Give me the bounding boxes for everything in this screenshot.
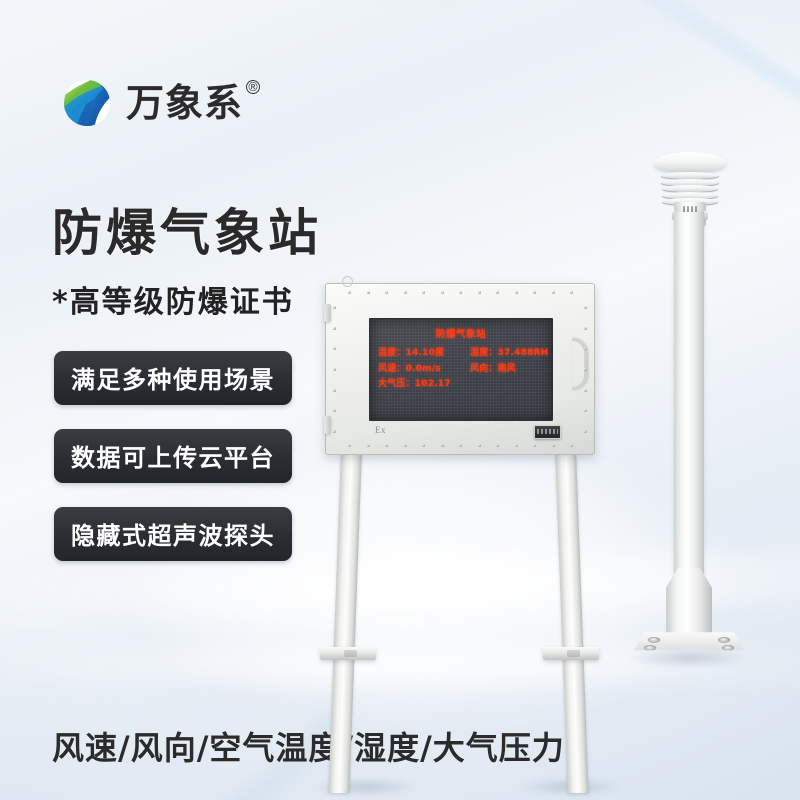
explosion-proof-display-cabinet: 防爆气象站 温度：14.10度 湿度：37.488RH 风速：0.0m/s 风向…: [325, 283, 595, 455]
registered-trademark-icon: ®: [246, 80, 260, 94]
led-temperature: 温度：14.10度: [378, 345, 470, 358]
bezel-bolt-icon: [496, 291, 499, 294]
bezel-bolt-icon: [441, 291, 444, 294]
led-wind-speed: 风速：0.0m/s: [378, 361, 470, 374]
page-title: 防爆气象站: [52, 193, 322, 265]
ex-certification-marking: Ex: [375, 425, 386, 435]
bezel-bolt-icon: [422, 444, 425, 447]
cabinet-foot-shadow-left: [311, 778, 419, 796]
led-row: 大气压：102.17: [378, 376, 552, 389]
feature-pill-3: 隐藏式超声波探头: [54, 507, 292, 561]
mast-pole-base-flare: [666, 568, 712, 634]
bezel-bolt-icon: [552, 444, 555, 447]
bezel-bolt-icon: [515, 291, 518, 294]
bezel-bolt-icon: [478, 444, 481, 447]
radiation-shield-fin: [661, 172, 719, 179]
bezel-bolt-icon: [333, 430, 336, 433]
led-air-pressure: 大气压：102.17: [378, 376, 470, 389]
led-humidity: 湿度：37.488RH: [470, 345, 548, 358]
flange-bolt-hole: [718, 637, 730, 643]
cabinet-foot-right: [543, 647, 599, 660]
led-readout-rows: 温度：14.10度 湿度：37.488RH 风速：0.0m/s 风向：南风 大气…: [378, 345, 552, 389]
bezel-bolt-icon: [385, 444, 388, 447]
bezel-bolt-icon: [333, 409, 336, 412]
bezel-bolt-icon: [584, 430, 587, 433]
bezel-bolt-icon: [367, 291, 370, 294]
led-row: 温度：14.10度 湿度：37.488RH: [378, 345, 552, 358]
led-display-screen: 防爆气象站 温度：14.10度 湿度：37.488RH 风速：0.0m/s 风向…: [369, 318, 553, 421]
bezel-bolt-icon: [333, 327, 336, 330]
mast-pole: [674, 212, 704, 592]
hinge-bottom-icon: [324, 416, 331, 434]
bezel-bolt-icon: [333, 306, 336, 309]
bezel-bolt-icon: [552, 291, 555, 294]
bezel-bolt-icon: [533, 444, 536, 447]
bezel-bolt-icon: [367, 444, 370, 447]
bezel-bolt-icon: [533, 291, 536, 294]
bezel-bolt-icon: [584, 409, 587, 412]
foot-bolt-notch: [344, 650, 357, 657]
feature-list: 满足多种使用场景 数据可上传云平台 隐藏式超声波探头: [54, 351, 292, 561]
bezel-bolt-icon: [570, 444, 573, 447]
hinge-top-icon: [324, 304, 331, 322]
bezel-bolt-icon: [333, 347, 336, 350]
bezel-bolt-icon: [459, 291, 462, 294]
bezel-bolt-icon: [404, 291, 407, 294]
flange-bolt-hole: [644, 645, 656, 651]
led-row: 风速：0.0m/s 风向：南风: [378, 361, 552, 374]
cabinet-foot-left: [320, 647, 376, 660]
nameplate-label-icon: [534, 425, 561, 439]
measured-parameters-banner: 风速/风向/空气温度/湿度/大气压力: [52, 723, 565, 769]
globe-swirl-logo-icon: [60, 76, 114, 130]
brand-logo: 万象系 ®: [60, 76, 243, 130]
bezel-bolt-icon: [459, 444, 462, 447]
bezel-bolt-icon: [496, 444, 499, 447]
bezel-bolt-icon: [348, 444, 351, 447]
display-cabinet-assembly: 防爆气象站 温度：14.10度 湿度：37.488RH 风速：0.0m/s 风向…: [325, 283, 595, 673]
bezel-bolt-icon: [584, 368, 587, 371]
led-screen-title: 防爆气象站: [370, 326, 552, 340]
lifting-eye-icon: [342, 276, 353, 287]
bezel-bolt-icon: [570, 291, 573, 294]
bezel-bolt-icon: [348, 291, 351, 294]
bezel-bolt-icon: [404, 444, 407, 447]
feature-pill-1: 满足多种使用场景: [54, 351, 292, 405]
bezel-bolt-icon: [478, 291, 481, 294]
door-handle-icon[interactable]: [572, 338, 587, 390]
bezel-bolt-icon: [333, 389, 336, 392]
foot-bolt-notch: [567, 650, 580, 657]
product-marketing-image: 万象系 ® 防爆气象站 *高等级防爆证书 满足多种使用场景 数据可上传云平台 隐…: [0, 0, 800, 800]
sensor-top-cap: [654, 152, 726, 173]
mast-base-shadow: [628, 648, 752, 668]
bezel-bolt-icon: [584, 389, 587, 392]
bezel-bolt-icon: [515, 444, 518, 447]
bezel-bolt-icon: [584, 306, 587, 309]
bezel-bolt-icon: [441, 444, 444, 447]
led-wind-direction: 风向：南风: [470, 361, 516, 374]
sensor-mast-assembly: [630, 148, 750, 668]
feature-pill-2: 数据可上传云平台: [54, 429, 292, 483]
bezel-bolt-icon: [422, 291, 425, 294]
flange-bolt-hole: [648, 637, 660, 643]
bezel-bolt-icon: [584, 327, 587, 330]
page-subtitle: *高等级防爆证书: [52, 277, 294, 321]
bezel-bolt-icon: [333, 368, 336, 371]
bezel-bolt-icon: [385, 291, 388, 294]
flange-bolt-hole: [722, 645, 734, 651]
brand-name: 万象系 ®: [126, 84, 243, 122]
